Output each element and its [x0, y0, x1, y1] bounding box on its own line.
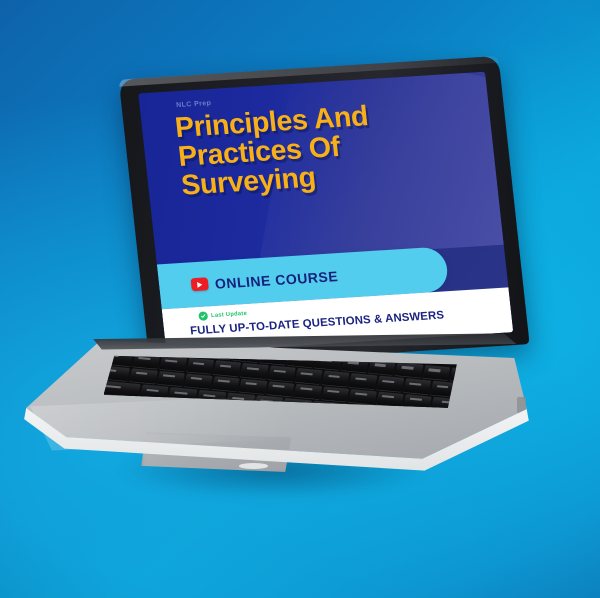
laptop-lid: NLC Prep Principles And Practices Of Sur…: [119, 56, 530, 368]
course-slide: NLC Prep Principles And Practices Of Sur…: [138, 72, 513, 354]
slide-hero-panel: NLC Prep Principles And Practices Of Sur…: [138, 72, 503, 267]
last-update-label: Last Update: [211, 310, 248, 318]
youtube-play-icon: [190, 278, 208, 291]
online-course-label: ONLINE COURSE: [214, 268, 339, 292]
brand-label: NLC Prep: [176, 100, 212, 109]
last-update-badge: Last Update: [199, 309, 248, 320]
check-circle-icon: [199, 312, 208, 321]
laptop-hinge: [93, 333, 516, 349]
laptop-mockup: NLC Prep Principles And Practices Of Sur…: [0, 0, 600, 598]
laptop-screen: NLC Prep Principles And Practices Of Sur…: [138, 72, 513, 354]
slide-title: Principles And Practices Of Surveying: [174, 95, 483, 201]
laptop-base: [20, 336, 536, 516]
screenshot-stage: NLC Prep Principles And Practices Of Sur…: [0, 0, 600, 598]
